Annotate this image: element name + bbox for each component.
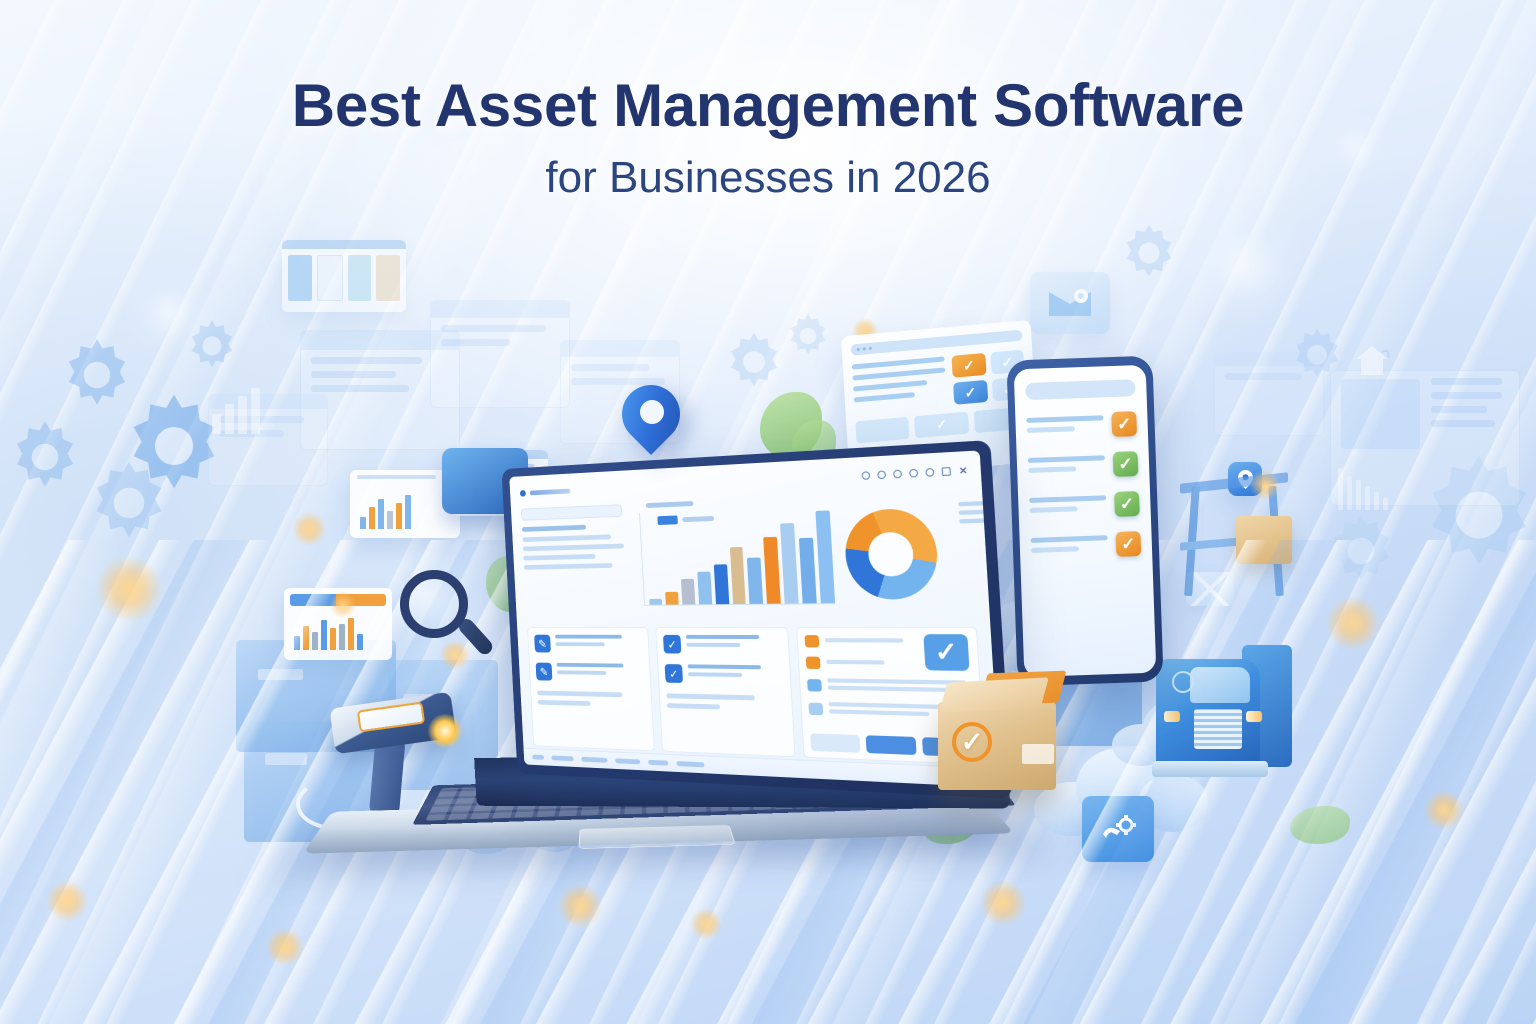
legend-line xyxy=(959,510,988,515)
bar-chart-bar xyxy=(815,510,835,603)
check-icon[interactable]: ✓ xyxy=(1115,531,1141,557)
donut-chart-ring xyxy=(843,507,940,600)
window-controls[interactable]: ✕ xyxy=(862,466,968,480)
primary-button[interactable] xyxy=(865,735,917,755)
list-item[interactable]: ✓ xyxy=(1030,531,1141,560)
bar-chart-bar xyxy=(665,592,678,605)
truck-emblem-icon xyxy=(1172,671,1194,693)
dashboard-screen[interactable]: ✕ xyxy=(509,450,1000,787)
edit-icon[interactable]: ✎ xyxy=(534,635,551,653)
list-item[interactable]: ✓ xyxy=(1026,411,1137,440)
bar-chart xyxy=(630,495,840,618)
map-card-icon xyxy=(1030,272,1110,334)
check-icon[interactable]: ✓ xyxy=(1113,451,1139,477)
glow-bokeh xyxy=(292,512,326,546)
laptop-lid: ✕ xyxy=(502,440,1013,799)
sidebar-text-line xyxy=(523,554,595,561)
gear-icon xyxy=(1322,512,1400,590)
glow-bokeh xyxy=(1326,596,1380,650)
bar-chart-bar xyxy=(713,564,728,604)
background-ui-panel xyxy=(430,300,570,408)
bar-chart-bar xyxy=(649,599,662,604)
glow-bokeh xyxy=(980,880,1026,926)
status-badge xyxy=(804,635,819,647)
phone-device[interactable]: ✓ ✓ ✓ ✓ xyxy=(1006,356,1163,687)
check-icon: ✓ xyxy=(952,722,992,762)
dashboard-body xyxy=(521,489,976,618)
sidebar-text-line xyxy=(524,563,613,570)
package-box: ✓ xyxy=(938,672,1064,790)
logo-dot-icon xyxy=(520,490,526,497)
check-icon[interactable]: ✓ xyxy=(1114,491,1140,517)
house-icon xyxy=(1352,342,1392,378)
app-logo xyxy=(520,487,571,496)
package-box xyxy=(1236,516,1292,564)
window-icon[interactable] xyxy=(942,467,951,476)
search-input[interactable] xyxy=(1025,379,1136,400)
circle-icon[interactable] xyxy=(894,470,903,479)
donut-chart xyxy=(842,489,976,617)
circle-icon[interactable] xyxy=(878,470,887,479)
bar-chart-title xyxy=(646,501,694,508)
floating-chart-card xyxy=(282,240,406,312)
status-badge xyxy=(808,703,823,716)
background-bar-chart xyxy=(1338,468,1388,510)
settings-gear-tile[interactable] xyxy=(1082,796,1154,862)
bar-chart-bar xyxy=(780,523,798,604)
circle-icon[interactable] xyxy=(862,471,871,480)
shipping-label xyxy=(1022,744,1054,764)
sidebar-section-label xyxy=(522,525,586,532)
list-item[interactable]: ✓ xyxy=(1029,491,1140,520)
bar-chart-bar xyxy=(764,537,782,604)
close-icon[interactable]: ✕ xyxy=(959,466,968,475)
bar-chart-y-axis xyxy=(639,513,645,606)
legend-label xyxy=(682,516,714,522)
gear-icon xyxy=(1118,222,1180,284)
bar-chart-bar xyxy=(729,547,746,604)
status-badge xyxy=(806,657,821,669)
secondary-button[interactable] xyxy=(810,733,860,752)
hero-banner: ✕ xyxy=(0,0,1536,1024)
gear-icon xyxy=(184,318,240,374)
gear-icon xyxy=(722,330,786,394)
glow-bokeh xyxy=(558,884,602,928)
glow-bokeh xyxy=(1424,790,1464,830)
gear-icon xyxy=(1099,814,1137,844)
glow-bokeh xyxy=(46,880,88,922)
page-title: Best Asset Management Software xyxy=(0,74,1536,138)
panel-footer-tiles[interactable]: ✓ xyxy=(855,406,1028,443)
check-icon[interactable]: ✓ xyxy=(1111,411,1137,437)
check-icon[interactable]: ✓ xyxy=(914,412,968,439)
card-text-line xyxy=(538,700,591,706)
check-icon[interactable]: ✓ xyxy=(665,664,683,683)
panel-text-lines xyxy=(852,356,948,413)
check-icon[interactable]: ✓ xyxy=(951,353,986,378)
status-badge xyxy=(807,679,822,692)
phone-screen[interactable]: ✓ ✓ ✓ ✓ xyxy=(1014,365,1157,677)
footer-tab[interactable] xyxy=(676,761,704,767)
circle-icon[interactable] xyxy=(926,468,935,477)
bar-chart-bar xyxy=(681,579,695,604)
check-icon[interactable]: ✓ xyxy=(923,634,969,671)
list-item[interactable]: ✓ xyxy=(1028,451,1139,480)
footer-tab[interactable] xyxy=(551,755,573,761)
laptop-trackpad[interactable] xyxy=(578,825,735,849)
gear-icon xyxy=(6,418,84,496)
footer-tab[interactable] xyxy=(648,760,668,766)
card-text-line xyxy=(537,691,622,698)
legend-line xyxy=(959,518,988,523)
tile[interactable] xyxy=(855,417,909,444)
donut-chart-legend xyxy=(958,501,989,528)
delivery-truck xyxy=(1150,645,1300,800)
gear-icon xyxy=(784,312,832,360)
edit-icon[interactable]: ✎ xyxy=(536,663,553,681)
check-icon[interactable]: ✓ xyxy=(663,635,681,654)
circle-icon[interactable] xyxy=(910,469,919,478)
footer-tab[interactable] xyxy=(581,757,607,763)
glow-bokeh xyxy=(96,556,162,622)
dashboard-sidebar[interactable] xyxy=(521,504,628,618)
bar-chart-bar xyxy=(799,537,817,603)
card-text-line xyxy=(666,693,755,700)
laptop-device[interactable]: ✕ xyxy=(330,455,990,885)
glow-bokeh xyxy=(266,928,304,966)
footer-tab[interactable] xyxy=(615,758,640,764)
legend-line xyxy=(958,501,987,506)
legend-swatch xyxy=(657,515,678,525)
card-text-line xyxy=(667,703,720,709)
bar-chart-bar xyxy=(747,557,763,603)
background-bar-chart xyxy=(212,388,260,434)
sidebar-text-line xyxy=(523,544,624,552)
glow-bokeh xyxy=(690,908,722,940)
bar-chart-bar xyxy=(697,571,712,604)
footer-tab[interactable] xyxy=(532,755,544,760)
sidebar-filter-chip[interactable] xyxy=(521,504,622,521)
app-name-label xyxy=(530,488,571,495)
sidebar-text-line xyxy=(522,534,611,542)
location-pin-icon xyxy=(622,385,686,469)
check-icon[interactable]: ✓ xyxy=(953,380,988,405)
list-item[interactable]: ✎ xyxy=(536,663,644,683)
plant-decoration xyxy=(1290,806,1350,844)
dashboard-cards: ✎ ✎ ✓ xyxy=(527,627,985,766)
gear-icon xyxy=(84,458,174,548)
card-column[interactable]: ✎ ✎ xyxy=(527,627,655,751)
glow-bokeh xyxy=(1186,206,1306,326)
page-subtitle: for Businesses in 2026 xyxy=(0,154,1536,202)
list-item[interactable]: ✓ xyxy=(663,635,782,654)
background-ui-panel xyxy=(1214,352,1324,436)
hero-title-block: Best Asset Management Software for Busin… xyxy=(0,74,1536,202)
list-item[interactable]: ✎ xyxy=(534,635,642,654)
card-column[interactable]: ✓ ✓ xyxy=(655,627,795,757)
list-item[interactable]: ✓ xyxy=(665,664,784,685)
